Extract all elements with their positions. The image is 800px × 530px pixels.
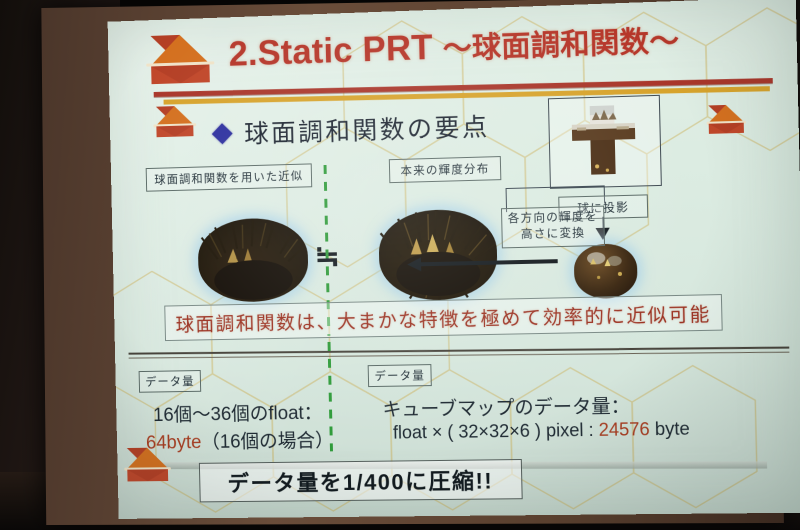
cubemap-image-box [548, 95, 662, 189]
projector-screen-frame: 2.Static PRT ～球面調和関数～ [41, 0, 784, 525]
right-data-suffix: byte [650, 418, 690, 439]
harmonic-approx-blob-left [197, 217, 309, 303]
pyramid-logo-right-edge [705, 104, 747, 136]
conclusion-box: データ量を1/400に圧縮!! [199, 459, 523, 502]
blob-right-spikes [378, 208, 498, 301]
page-title: 2.Static PRT ～球面調和関数～ [228, 17, 679, 75]
pyramid-logo-small-left [152, 105, 197, 140]
sphere-projection-image [574, 243, 638, 299]
diamond-bullet-icon [212, 123, 233, 144]
original-distribution-blob-right [378, 208, 498, 301]
pyramid-logo-bottom-left [123, 447, 172, 485]
cubemap-cross-image [549, 96, 661, 188]
left-data-line2: 64byte（16個の場合） [146, 425, 334, 454]
projected-slide-photo: 2.Static PRT ～球面調和関数～ [0, 0, 800, 530]
right-data-line1: キューブマップのデータ量： [382, 391, 630, 422]
label-original-distribution: 本来の輝度分布 [389, 156, 502, 183]
title-subtitle: ～球面調和関数～ [442, 25, 679, 65]
label-approximation: 球面調和関数を用いた近似 [146, 163, 313, 191]
presentation-slide: 2.Static PRT ～球面調和関数～ [108, 0, 800, 519]
section-heading-label: 球面調和関数の要点 [244, 107, 490, 150]
left-data-line1: 16個～36個のfloat： [153, 398, 323, 427]
blob-left-spikes [197, 217, 309, 303]
convert-line2: 高さに変換 [521, 226, 586, 243]
right-data-highlight: 24576 [598, 419, 649, 440]
arrow-left-icon [407, 257, 421, 271]
left-data-rest: （16個の場合） [201, 430, 334, 453]
label-data-amount-left: データ量 [139, 370, 202, 393]
label-convert-to-height: 各方向の輝度を 高さに変換 [501, 206, 605, 249]
label-data-amount-right: データ量 [368, 364, 432, 387]
right-data-prefix: float × ( 32×32×6 ) pixel : [393, 420, 599, 443]
right-data-line2: float × ( 32×32×6 ) pixel : 24576 byte [393, 418, 690, 443]
slide-title-row: 2.Static PRT ～球面調和関数～ [152, 12, 774, 93]
sphere-highlights [574, 243, 638, 299]
pyramid-logo-title [145, 34, 216, 88]
title-main: 2.Static PRT [228, 28, 433, 74]
